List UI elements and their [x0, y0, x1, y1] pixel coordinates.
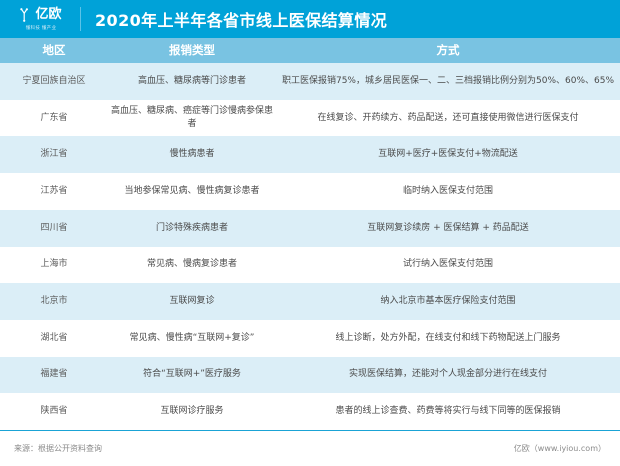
cell-type: 互联网诊疗服务 [108, 403, 276, 420]
cell-type: 门诊特殊疾病患者 [108, 220, 276, 237]
logo-wordmark: 亿欧 [35, 8, 61, 22]
infographic-card: 亿欧 懂科技 懂产业 2020年上半年各省市线上医保结算情况 地区 报销类型 方… [0, 0, 620, 466]
page-title: 2020年上半年各省市线上医保结算情况 [95, 7, 387, 31]
source-note: 来源：根据公开资料查询 [14, 443, 102, 454]
brand-logo: 亿欧 懂科技 懂产业 [0, 0, 78, 38]
column-header-region: 地区 [0, 40, 108, 61]
table-row: 陕西省 互联网诊疗服务 患者的线上诊查费、药费等将实行与线下同等的医保报销 [0, 393, 620, 430]
cell-region: 北京市 [0, 293, 108, 310]
footer: 来源：根据公开资料查询 亿欧（www.iyiou.com） [0, 430, 620, 466]
logo-divider [80, 7, 81, 31]
title-bar: 亿欧 懂科技 懂产业 2020年上半年各省市线上医保结算情况 [0, 0, 620, 38]
column-header-type: 报销类型 [108, 40, 276, 61]
cell-region: 福建省 [0, 366, 108, 383]
table-row: 福建省 符合“互联网+”医疗服务 实现医保结算，还能对个人现金部分进行在线支付 [0, 357, 620, 394]
cell-method: 纳入北京市基本医疗保险支付范围 [276, 293, 620, 310]
table-row: 上海市 常见病、慢病复诊患者 试行纳入医保支付范围 [0, 247, 620, 284]
cell-type: 当地参保常见病、慢性病复诊患者 [108, 183, 276, 200]
table-row: 北京市 互联网复诊 纳入北京市基本医疗保险支付范围 [0, 283, 620, 320]
cell-method: 互联网复诊续房 + 医保结算 + 药品配送 [276, 220, 620, 237]
cell-type: 常见病、慢性病“互联网+复诊” [108, 330, 276, 347]
cell-method: 在线复诊、开药续方、药品配送，还可直接使用微信进行医保支付 [276, 110, 620, 127]
cell-region: 浙江省 [0, 146, 108, 163]
cell-type: 高血压、糖尿病等门诊患者 [108, 73, 276, 90]
footer-brand: 亿欧（www.iyiou.com） [514, 443, 606, 454]
table-row: 江苏省 当地参保常见病、慢性病复诊患者 临时纳入医保支付范围 [0, 173, 620, 210]
cell-type: 互联网复诊 [108, 293, 276, 310]
cell-region: 上海市 [0, 256, 108, 273]
cell-method: 临时纳入医保支付范围 [276, 183, 620, 200]
cell-method: 线上诊断，处方外配，在线支付和线下药物配送上门服务 [276, 330, 620, 347]
cell-type: 符合“互联网+”医疗服务 [108, 366, 276, 383]
cell-region: 湖北省 [0, 330, 108, 347]
cell-method: 患者的线上诊查费、药费等将实行与线下同等的医保报销 [276, 403, 620, 420]
cell-method: 实现医保结算，还能对个人现金部分进行在线支付 [276, 366, 620, 383]
column-header-method: 方式 [276, 40, 620, 61]
cell-type: 慢性病患者 [108, 146, 276, 163]
table-row: 宁夏回族自治区 高血压、糖尿病等门诊患者 职工医保报销75%，城乡居民医保一、二… [0, 63, 620, 100]
logo-main: 亿欧 [20, 8, 61, 23]
yiou-logo-icon [20, 8, 33, 23]
table-body: 宁夏回族自治区 高血压、糖尿病等门诊患者 职工医保报销75%，城乡居民医保一、二… [0, 63, 620, 430]
cell-region: 广东省 [0, 110, 108, 127]
table-row: 广东省 高血压、糖尿病、癌症等门诊慢病参保患者 在线复诊、开药续方、药品配送，还… [0, 100, 620, 137]
cell-type: 高血压、糖尿病、癌症等门诊慢病参保患者 [108, 103, 276, 133]
cell-type: 常见病、慢病复诊患者 [108, 256, 276, 273]
table-row: 浙江省 慢性病患者 互联网+医疗+医保支付+物流配送 [0, 136, 620, 173]
cell-method: 试行纳入医保支付范围 [276, 256, 620, 273]
cell-region: 宁夏回族自治区 [0, 73, 108, 90]
cell-region: 陕西省 [0, 403, 108, 420]
table-row: 四川省 门诊特殊疾病患者 互联网复诊续房 + 医保结算 + 药品配送 [0, 210, 620, 247]
table-column-header: 地区 报销类型 方式 [0, 38, 620, 63]
logo-tagline: 懂科技 懂产业 [26, 25, 57, 31]
cell-region: 四川省 [0, 220, 108, 237]
cell-method: 互联网+医疗+医保支付+物流配送 [276, 146, 620, 163]
cell-method: 职工医保报销75%，城乡居民医保一、二、三档报销比例分别为50%、60%、65% [276, 73, 620, 90]
cell-region: 江苏省 [0, 183, 108, 200]
table-row: 湖北省 常见病、慢性病“互联网+复诊” 线上诊断，处方外配，在线支付和线下药物配… [0, 320, 620, 357]
